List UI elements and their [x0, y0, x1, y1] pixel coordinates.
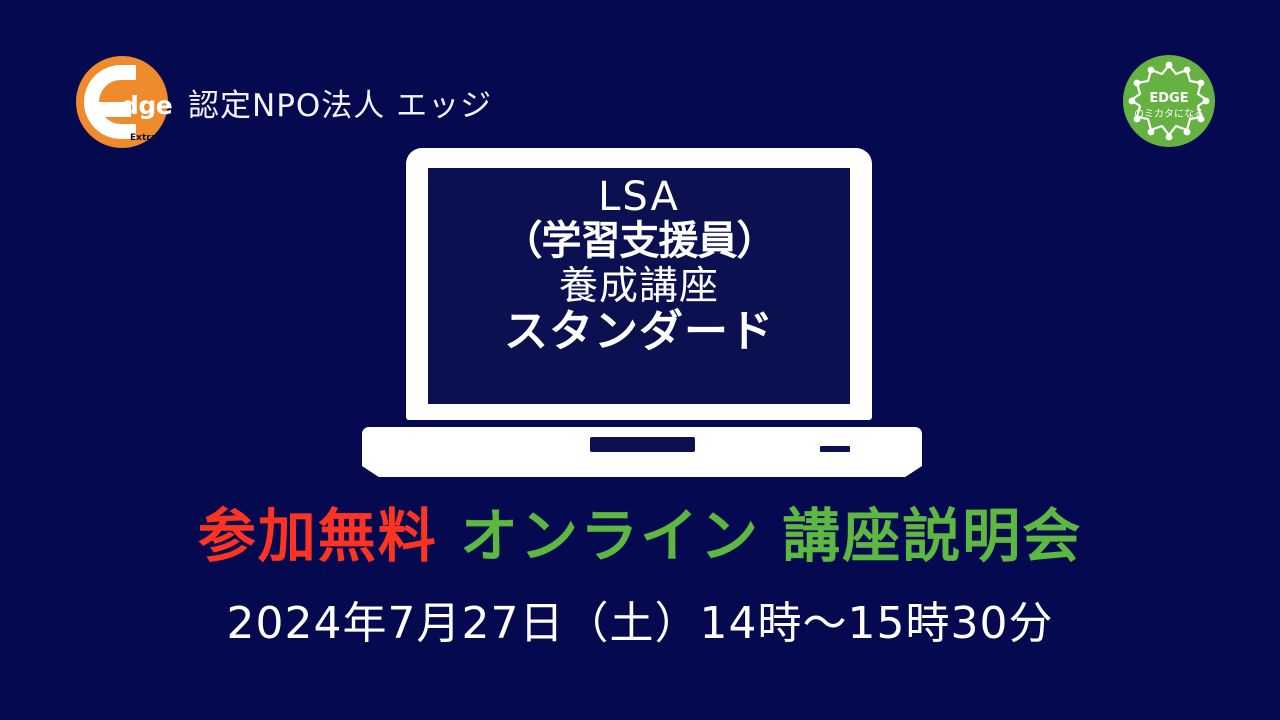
- event-datetime: 2024年7月27日（土）14時〜15時30分: [0, 598, 1280, 651]
- poster-canvas: dge Extra 認定NPO法人 エッジ: [0, 0, 1280, 720]
- screen-title-line-4: スタンダード: [504, 309, 774, 356]
- edge-supporter-badge: EDGE のミカタになる: [1120, 52, 1218, 150]
- screen-title-line-2: （学習支援員）: [503, 220, 776, 262]
- headline-event-label: オンライン 講座説明会: [460, 502, 1082, 570]
- laptop-lid: LSA （学習支援員） 養成講座 スタンダード: [406, 148, 872, 420]
- screen-title-line-3: 養成講座: [559, 266, 719, 307]
- badge-line1: EDGE: [1149, 91, 1188, 106]
- laptop-base: [362, 427, 922, 477]
- screen-title-line-1: LSA: [598, 176, 680, 218]
- logo-dge-text: dge: [121, 93, 172, 118]
- headline-free-label: 参加無料: [198, 502, 438, 570]
- organization-name: 認定NPO法人 エッジ: [188, 80, 492, 125]
- headline: 参加無料 オンライン 講座説明会: [0, 505, 1280, 569]
- logo-extra-text: Extra: [130, 134, 157, 143]
- laptop-trackpad: [590, 437, 695, 452]
- laptop-screen: LSA （学習支援員） 養成講座 スタンダード: [428, 168, 850, 404]
- laptop-base-dash: [820, 446, 850, 452]
- badge-line2: のミカタになる: [1134, 108, 1204, 120]
- header: dge Extra 認定NPO法人 エッジ: [76, 56, 492, 148]
- edge-logo: dge Extra: [76, 56, 168, 148]
- badge-graphic-icon: EDGE のミカタになる: [1120, 52, 1218, 150]
